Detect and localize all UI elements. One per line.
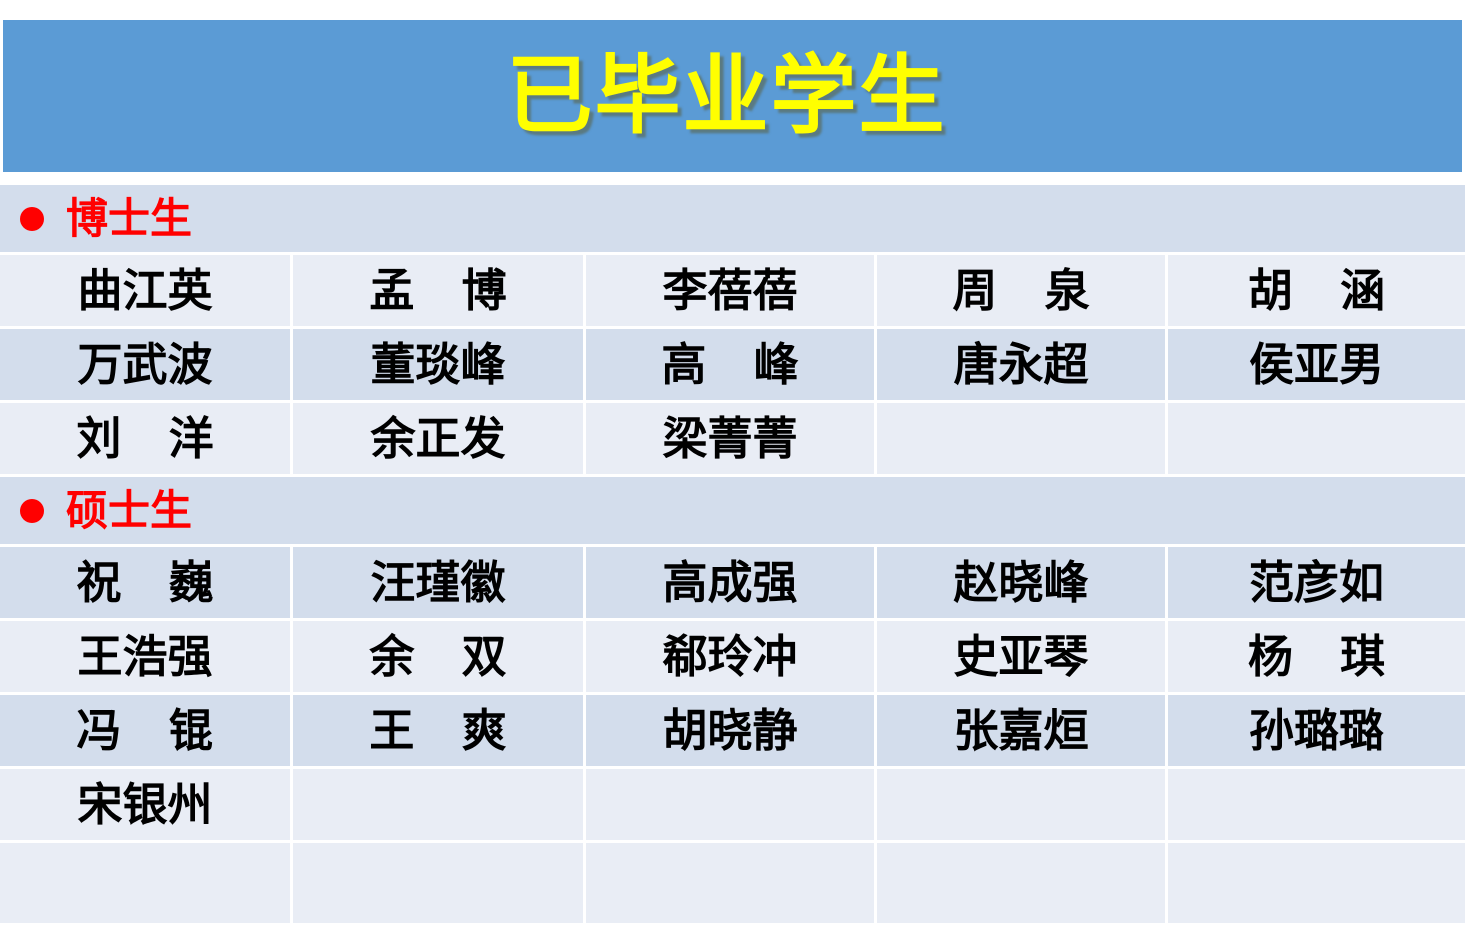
student-name: 汪瑾徽 bbox=[370, 560, 505, 605]
bullet-dot-icon bbox=[20, 207, 44, 231]
student-name: 周泉 bbox=[952, 268, 1089, 313]
student-name: 宋银州 bbox=[77, 782, 212, 827]
section-label: 博士生 bbox=[66, 198, 192, 240]
student-name-cell: 范彦如 bbox=[1168, 547, 1465, 618]
student-name: 曲江英 bbox=[77, 268, 212, 313]
student-name-cell bbox=[293, 843, 586, 923]
student-name-cell: 周泉 bbox=[877, 255, 1168, 326]
table-row: 万武波董琰峰高峰唐永超侯亚男 bbox=[0, 329, 1465, 403]
student-name-cell bbox=[0, 843, 293, 923]
section-header-1: 博士生 bbox=[0, 185, 1465, 255]
student-name-cell: 史亚琴 bbox=[877, 621, 1168, 692]
student-name-cell bbox=[877, 769, 1168, 840]
student-name: 万武波 bbox=[77, 342, 212, 387]
student-name-cell: 刘洋 bbox=[0, 403, 293, 474]
section-header-2: 硕士生 bbox=[0, 477, 1465, 547]
student-name-cell bbox=[1168, 403, 1465, 474]
student-name: 范彦如 bbox=[1249, 560, 1384, 605]
student-name-cell: 孙璐璐 bbox=[1168, 695, 1465, 766]
student-name-cell bbox=[877, 403, 1168, 474]
student-name: 杨琪 bbox=[1248, 634, 1385, 679]
student-name: 张嘉烜 bbox=[953, 708, 1088, 753]
student-name: 刘洋 bbox=[76, 416, 213, 461]
student-name-cell: 董琰峰 bbox=[293, 329, 586, 400]
student-name-cell: 唐永超 bbox=[877, 329, 1168, 400]
student-name-cell: 梁菁菁 bbox=[586, 403, 877, 474]
student-name: 董琰峰 bbox=[370, 342, 505, 387]
section-label: 硕士生 bbox=[66, 490, 192, 532]
student-name-cell bbox=[877, 843, 1168, 923]
table-row: 冯锟王爽胡晓静张嘉烜孙璐璐 bbox=[0, 695, 1465, 769]
student-name: 王浩强 bbox=[77, 634, 212, 679]
student-name: 余正发 bbox=[370, 416, 505, 461]
student-name: 胡晓静 bbox=[662, 708, 797, 753]
student-name-cell: 高峰 bbox=[586, 329, 877, 400]
student-name-cell: 李蓓蓓 bbox=[586, 255, 877, 326]
student-name: 余双 bbox=[369, 634, 506, 679]
student-name-cell: 赵晓峰 bbox=[877, 547, 1168, 618]
student-name-cell bbox=[586, 843, 877, 923]
table-row: 刘洋余正发梁菁菁 bbox=[0, 403, 1465, 477]
student-name-cell: 高成强 bbox=[586, 547, 877, 618]
student-name-cell bbox=[1168, 843, 1465, 923]
student-name-cell: 杨琪 bbox=[1168, 621, 1465, 692]
table-row: 曲江英孟博李蓓蓓周泉胡涵 bbox=[0, 255, 1465, 329]
student-name-cell: 万武波 bbox=[0, 329, 293, 400]
table-row: 宋银州 bbox=[0, 769, 1465, 843]
title-banner: 已毕业学生 bbox=[3, 20, 1462, 172]
student-name-cell bbox=[1168, 769, 1465, 840]
student-name: 唐永超 bbox=[953, 342, 1088, 387]
student-name-cell: 余正发 bbox=[293, 403, 586, 474]
student-name: 赵晓峰 bbox=[953, 560, 1088, 605]
student-name-cell: 王浩强 bbox=[0, 621, 293, 692]
student-name-cell: 冯锟 bbox=[0, 695, 293, 766]
page-title: 已毕业学生 bbox=[507, 53, 947, 139]
student-name-cell: 宋银州 bbox=[0, 769, 293, 840]
student-name: 冯锟 bbox=[76, 708, 213, 753]
student-name-cell: 曲江英 bbox=[0, 255, 293, 326]
student-name-cell: 侯亚男 bbox=[1168, 329, 1465, 400]
student-name-cell: 胡晓静 bbox=[586, 695, 877, 766]
student-name-cell: 郗玲冲 bbox=[586, 621, 877, 692]
bullet-dot-icon bbox=[20, 499, 44, 523]
table-row: 祝巍汪瑾徽高成强赵晓峰范彦如 bbox=[0, 547, 1465, 621]
student-name-cell bbox=[293, 769, 586, 840]
table-row: 王浩强余双郗玲冲史亚琴杨琪 bbox=[0, 621, 1465, 695]
student-name: 孟博 bbox=[369, 268, 506, 313]
student-name-cell: 汪瑾徽 bbox=[293, 547, 586, 618]
table-row-empty bbox=[0, 843, 1465, 923]
student-name: 高成强 bbox=[662, 560, 797, 605]
student-name-cell: 胡涵 bbox=[1168, 255, 1465, 326]
student-name: 李蓓蓓 bbox=[662, 268, 797, 313]
student-name-cell: 张嘉烜 bbox=[877, 695, 1168, 766]
student-name: 史亚琴 bbox=[953, 634, 1088, 679]
student-name-cell: 孟博 bbox=[293, 255, 586, 326]
slide-root: 已毕业学生 博士生曲江英孟博李蓓蓓周泉胡涵万武波董琰峰高峰唐永超侯亚男刘洋余正发… bbox=[0, 0, 1465, 937]
student-name: 王爽 bbox=[369, 708, 506, 753]
student-name: 祝巍 bbox=[76, 560, 213, 605]
student-name: 高峰 bbox=[661, 342, 798, 387]
student-name-cell bbox=[586, 769, 877, 840]
students-table: 博士生曲江英孟博李蓓蓓周泉胡涵万武波董琰峰高峰唐永超侯亚男刘洋余正发梁菁菁硕士生… bbox=[0, 185, 1465, 937]
student-name: 胡涵 bbox=[1248, 268, 1385, 313]
student-name: 侯亚男 bbox=[1249, 342, 1384, 387]
student-name-cell: 余双 bbox=[293, 621, 586, 692]
student-name: 梁菁菁 bbox=[662, 416, 797, 461]
student-name-cell: 祝巍 bbox=[0, 547, 293, 618]
student-name-cell: 王爽 bbox=[293, 695, 586, 766]
student-name: 孙璐璐 bbox=[1249, 708, 1384, 753]
student-name: 郗玲冲 bbox=[662, 634, 797, 679]
